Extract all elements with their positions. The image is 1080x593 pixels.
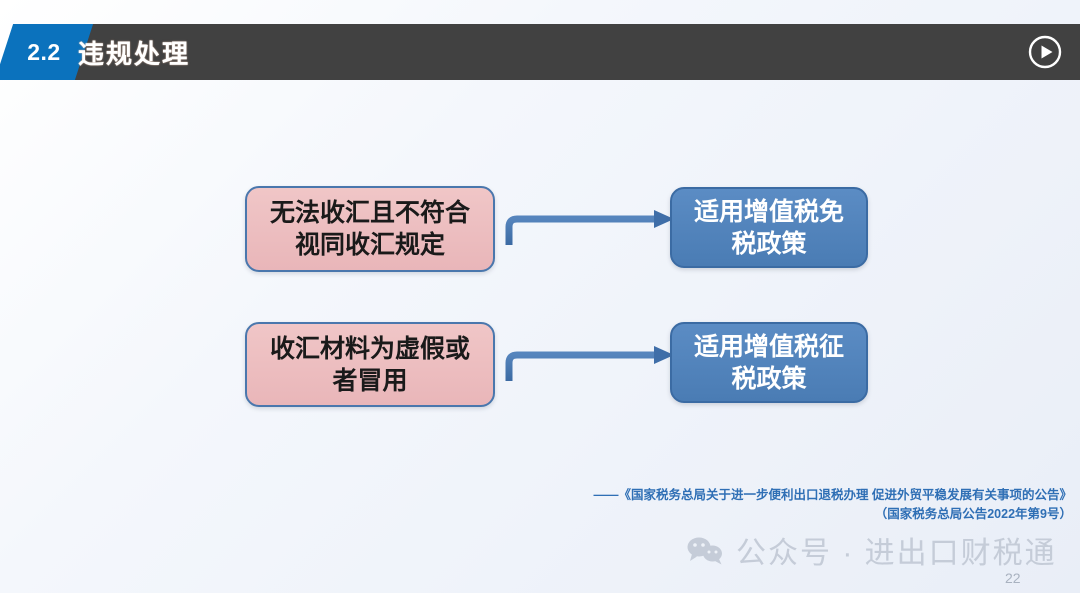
flow-source-node-1[interactable]: 无法收汇且不符合 视同收汇规定 <box>245 186 495 272</box>
page-number: 22 <box>1005 570 1021 586</box>
flow-target-node-2[interactable]: 适用增值税征 税政策 <box>670 322 868 403</box>
watermark-text: 公众号 · 进出口财税通 <box>736 528 1057 572</box>
flow-target-node-1[interactable]: 适用增值税免 税政策 <box>670 187 868 268</box>
citation-line-1: ——《国家税务总局关于进一步便利出口退税办理 促进外贸平稳发展有关事项的公告》 <box>594 488 1072 502</box>
citation-line-2: （国家税务总局公告2022年第9号） <box>552 505 1072 524</box>
wechat-icon <box>686 535 724 565</box>
watermark: 公众号 · 进出口财税通 <box>686 528 1057 572</box>
flow-source-node-2[interactable]: 收汇材料为虚假或 者冒用 <box>245 322 495 407</box>
source-citation: ——《国家税务总局关于进一步便利出口退税办理 促进外贸平稳发展有关事项的公告》 … <box>552 486 1072 525</box>
slide-canvas: 2.2 违规处理 无法收汇且不符合 视同收汇规定 <box>0 0 1080 593</box>
elbow-arrow-icon-1 <box>500 200 676 256</box>
elbow-arrow-icon-2 <box>500 336 676 392</box>
